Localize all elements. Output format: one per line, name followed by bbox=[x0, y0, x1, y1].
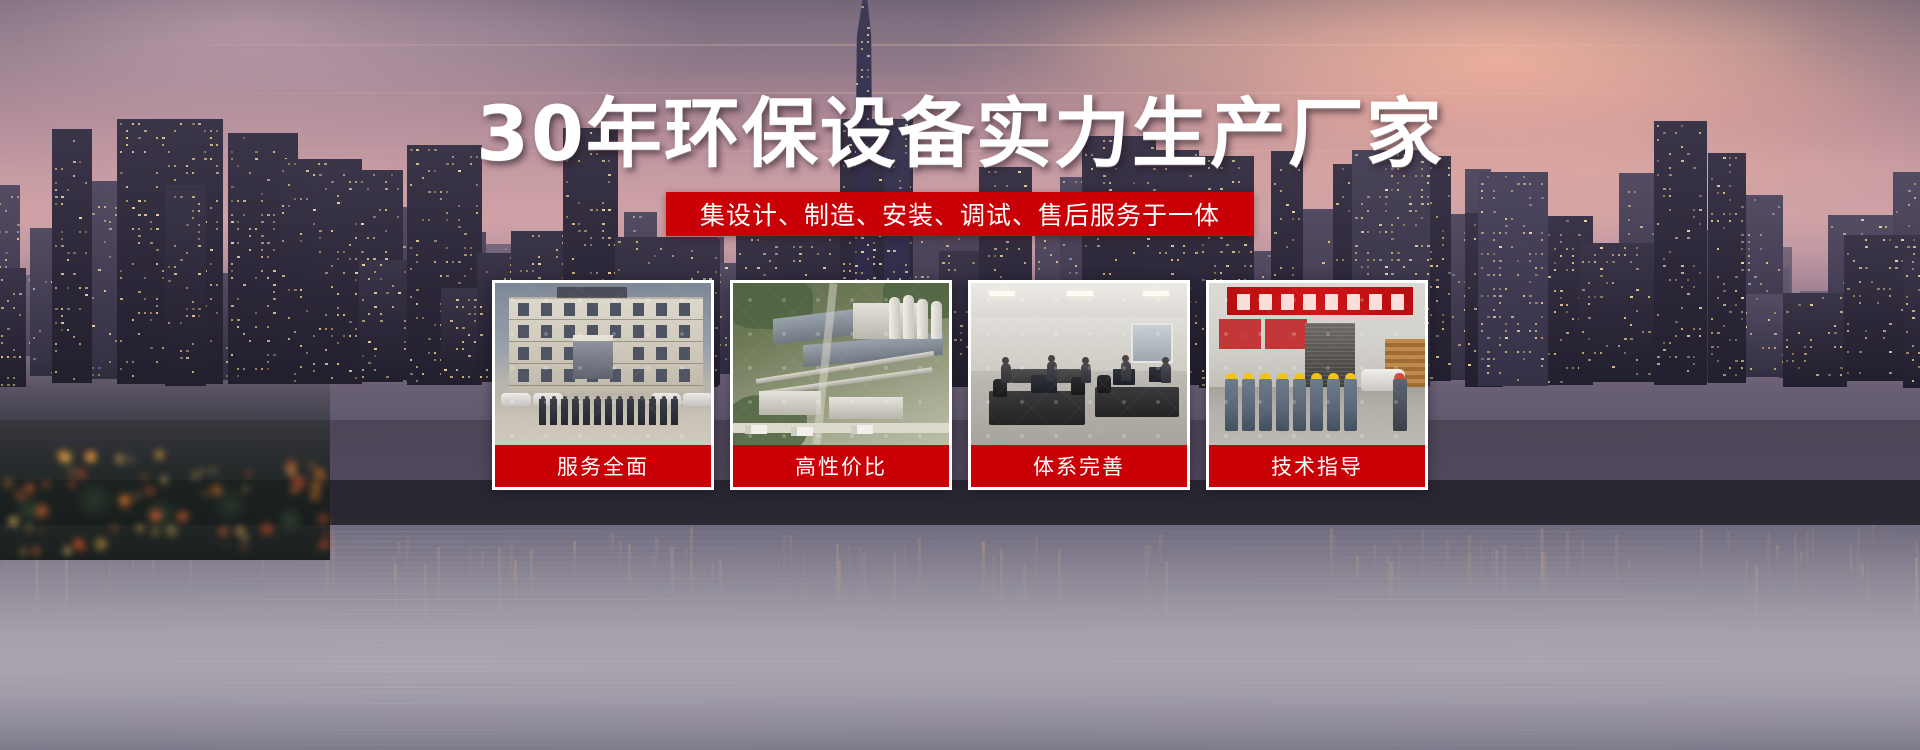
water-ripple bbox=[0, 713, 1920, 714]
window-light bbox=[1274, 232, 1277, 234]
company-sign bbox=[557, 287, 627, 298]
window-light bbox=[386, 376, 389, 378]
window-light bbox=[1913, 253, 1915, 255]
window-light bbox=[422, 317, 424, 319]
window-light bbox=[67, 252, 70, 254]
window-light bbox=[474, 306, 476, 308]
window-light bbox=[1723, 192, 1725, 194]
shutter-slat bbox=[1305, 355, 1355, 356]
light-reflection bbox=[1387, 555, 1390, 611]
window-light bbox=[7, 300, 9, 302]
window-light bbox=[590, 237, 592, 239]
window-light bbox=[1385, 231, 1387, 233]
window-light bbox=[1541, 358, 1544, 360]
window-light bbox=[1430, 314, 1432, 316]
window-light bbox=[294, 198, 296, 200]
window-light bbox=[180, 322, 182, 324]
window-light bbox=[1063, 181, 1065, 183]
truck bbox=[791, 427, 813, 436]
window-light bbox=[1523, 232, 1525, 234]
window-light bbox=[1415, 224, 1417, 226]
window-light bbox=[1487, 351, 1490, 353]
bank-light bbox=[25, 484, 34, 493]
light-reflection bbox=[1000, 549, 1003, 620]
window-light bbox=[1274, 274, 1276, 276]
window-light bbox=[1421, 245, 1423, 247]
window-light bbox=[1723, 227, 1725, 229]
window-light bbox=[456, 299, 459, 301]
window-light bbox=[210, 263, 212, 265]
window-light bbox=[1687, 370, 1689, 372]
window-light bbox=[446, 219, 448, 221]
window-light bbox=[210, 284, 212, 286]
window-light bbox=[1535, 267, 1537, 269]
worker bbox=[1327, 379, 1340, 431]
window-light bbox=[55, 343, 57, 345]
window-light bbox=[538, 263, 541, 265]
window-light bbox=[61, 231, 63, 233]
window-light bbox=[1103, 182, 1105, 184]
window-light bbox=[480, 376, 482, 378]
window-light bbox=[1328, 241, 1330, 243]
window-light bbox=[33, 288, 35, 290]
window-light bbox=[739, 253, 741, 255]
window-light bbox=[1147, 238, 1150, 240]
bank-light bbox=[88, 454, 95, 461]
bank-light bbox=[119, 495, 130, 506]
window-light bbox=[1663, 195, 1665, 197]
light-reflection bbox=[1727, 532, 1730, 557]
window-light bbox=[319, 230, 322, 232]
bank-light bbox=[15, 490, 26, 501]
water-ripple bbox=[0, 599, 1920, 600]
window-light bbox=[55, 308, 58, 310]
window-light bbox=[1741, 206, 1744, 208]
window-light bbox=[1487, 274, 1490, 276]
silo bbox=[903, 295, 914, 339]
window-light bbox=[1754, 199, 1756, 201]
window-light bbox=[867, 69, 869, 71]
building-window bbox=[656, 347, 667, 360]
window-light bbox=[55, 189, 57, 191]
window-light bbox=[446, 247, 448, 249]
window-light bbox=[267, 326, 269, 328]
feature-card[interactable]: 高性价比 bbox=[730, 280, 952, 490]
window-light bbox=[1171, 259, 1173, 261]
window-light bbox=[602, 202, 604, 204]
window-light bbox=[1681, 307, 1683, 309]
window-light bbox=[410, 268, 412, 270]
window-light bbox=[249, 228, 251, 230]
bank-light bbox=[146, 487, 154, 495]
feature-card[interactable]: 体系完善 bbox=[968, 280, 1190, 490]
window-light bbox=[231, 221, 234, 223]
window-light bbox=[1834, 346, 1836, 348]
window-light bbox=[1624, 317, 1626, 319]
building-window bbox=[518, 347, 529, 360]
window-light bbox=[67, 308, 70, 310]
window-light bbox=[1774, 347, 1776, 349]
window-light bbox=[1663, 342, 1665, 344]
light-reflection bbox=[671, 547, 674, 609]
bank-light bbox=[324, 532, 329, 537]
window-light bbox=[1693, 328, 1695, 330]
banner-character bbox=[1281, 294, 1294, 310]
feature-card[interactable]: 服务全面 bbox=[492, 280, 714, 490]
window-light bbox=[126, 186, 128, 188]
window-light bbox=[793, 246, 795, 248]
window-light bbox=[1397, 259, 1400, 261]
window-light bbox=[1018, 248, 1020, 250]
window-light bbox=[150, 221, 152, 223]
window-light bbox=[691, 250, 693, 252]
staff-head bbox=[541, 396, 545, 400]
window-light bbox=[861, 237, 864, 239]
window-light bbox=[92, 297, 94, 299]
window-light bbox=[361, 251, 364, 253]
window-light bbox=[867, 27, 870, 29]
window-light bbox=[404, 320, 406, 322]
staff-member bbox=[616, 399, 623, 425]
window-light bbox=[1572, 255, 1574, 257]
window-light bbox=[1529, 260, 1531, 262]
window-light bbox=[1474, 273, 1476, 275]
window-light bbox=[486, 271, 488, 273]
light-reflection bbox=[1333, 534, 1336, 579]
window-light bbox=[584, 244, 586, 246]
light-reflection bbox=[1526, 547, 1529, 580]
window-light bbox=[1220, 251, 1223, 253]
window-light bbox=[829, 253, 831, 255]
window-light bbox=[1292, 218, 1294, 220]
water-ripple bbox=[0, 640, 1920, 641]
window-light bbox=[1, 307, 4, 309]
window-light bbox=[994, 248, 997, 250]
window-light bbox=[374, 271, 376, 273]
window-light bbox=[1663, 349, 1666, 351]
window-light bbox=[1896, 211, 1898, 213]
window-light bbox=[1912, 380, 1914, 382]
window-light bbox=[1840, 374, 1842, 376]
window-light bbox=[1481, 211, 1483, 213]
person-head bbox=[1122, 355, 1129, 362]
window-light bbox=[385, 230, 387, 232]
shutter-slat bbox=[1305, 359, 1355, 360]
window-light bbox=[231, 319, 233, 321]
window-light bbox=[192, 301, 194, 303]
window-light bbox=[1822, 297, 1824, 299]
window-light bbox=[1669, 251, 1671, 253]
helmet bbox=[1311, 373, 1322, 379]
window-light bbox=[1913, 239, 1915, 241]
window-light bbox=[1367, 273, 1369, 275]
shutter-slat bbox=[1305, 331, 1355, 332]
window-light bbox=[138, 200, 141, 202]
window-light bbox=[273, 354, 276, 356]
window-light bbox=[1669, 342, 1671, 344]
window-light bbox=[861, 251, 864, 253]
window-light bbox=[1748, 241, 1750, 243]
window-light bbox=[1913, 246, 1916, 248]
building-entrance bbox=[573, 335, 613, 379]
person-head bbox=[1162, 357, 1169, 364]
window-light bbox=[17, 231, 19, 233]
light-reflection bbox=[802, 555, 805, 623]
window-light bbox=[349, 335, 351, 337]
office-interior-meeting-photo bbox=[971, 283, 1187, 445]
window-light bbox=[1630, 324, 1632, 326]
window-light bbox=[1908, 190, 1911, 192]
window-light bbox=[1085, 245, 1087, 247]
window-light bbox=[1906, 331, 1908, 333]
window-light bbox=[1693, 286, 1695, 288]
light-reflection bbox=[1628, 558, 1631, 582]
window-light bbox=[757, 267, 760, 269]
light-reflection bbox=[1503, 545, 1506, 618]
window-light bbox=[942, 262, 945, 264]
window-light bbox=[1588, 296, 1590, 298]
window-light bbox=[458, 219, 460, 221]
window-light bbox=[1669, 174, 1672, 176]
window-light bbox=[1847, 351, 1849, 353]
worker bbox=[1259, 379, 1272, 431]
window-light bbox=[243, 214, 245, 216]
light-reflection bbox=[903, 540, 906, 618]
window-light bbox=[331, 181, 334, 183]
window-light bbox=[1804, 360, 1806, 362]
window-light bbox=[288, 289, 290, 291]
window-light bbox=[404, 348, 406, 350]
window-light bbox=[126, 200, 128, 202]
window-light bbox=[1493, 316, 1496, 318]
window-light bbox=[313, 209, 316, 211]
window-light bbox=[1262, 276, 1264, 278]
window-light bbox=[1889, 295, 1891, 297]
window-light bbox=[1675, 321, 1678, 323]
shutter-slat bbox=[1305, 347, 1355, 348]
building-window bbox=[541, 325, 552, 338]
window-light bbox=[1397, 182, 1399, 184]
window-light bbox=[1600, 296, 1603, 298]
window-light bbox=[1612, 261, 1615, 263]
window-light bbox=[1499, 372, 1501, 374]
window-light bbox=[67, 189, 69, 191]
window-light bbox=[1663, 258, 1665, 260]
light-reflection bbox=[397, 542, 400, 560]
window-light bbox=[1594, 254, 1596, 256]
window-light bbox=[267, 340, 270, 342]
window-light bbox=[1024, 185, 1027, 187]
window-light bbox=[1171, 273, 1174, 275]
bank-light bbox=[36, 505, 48, 517]
window-light bbox=[823, 267, 826, 269]
window-light bbox=[1681, 286, 1683, 288]
window-light bbox=[1517, 330, 1520, 332]
window-light bbox=[468, 313, 471, 315]
window-light bbox=[1006, 241, 1009, 243]
window-light bbox=[1280, 190, 1282, 192]
window-light bbox=[288, 338, 290, 340]
feature-card-row: 服务全面 bbox=[492, 280, 1428, 490]
window-light bbox=[1133, 252, 1135, 254]
window-light bbox=[1750, 333, 1752, 335]
window-light bbox=[532, 263, 534, 265]
window-light bbox=[1442, 258, 1444, 260]
window-light bbox=[578, 230, 581, 232]
window-light bbox=[1171, 245, 1174, 247]
window-light bbox=[1493, 190, 1495, 192]
window-light bbox=[1693, 363, 1695, 365]
window-light bbox=[55, 182, 57, 184]
window-light bbox=[198, 245, 201, 247]
window-light bbox=[138, 291, 141, 293]
window-light bbox=[156, 186, 158, 188]
window-light bbox=[374, 355, 376, 357]
window-light bbox=[861, 69, 863, 71]
person-head bbox=[1082, 357, 1089, 364]
window-light bbox=[915, 276, 917, 278]
window-light bbox=[19, 314, 21, 316]
window-light bbox=[237, 200, 239, 202]
window-light bbox=[210, 249, 213, 251]
window-light bbox=[1687, 230, 1690, 232]
window-light bbox=[1183, 252, 1185, 254]
window-light bbox=[1594, 261, 1596, 263]
window-light bbox=[1505, 232, 1507, 234]
window-light bbox=[374, 306, 377, 308]
light-reflection bbox=[619, 542, 622, 580]
light-reflection bbox=[1544, 552, 1547, 621]
window-light bbox=[751, 239, 753, 241]
window-light bbox=[1606, 345, 1608, 347]
banner-character bbox=[1237, 294, 1250, 310]
window-light bbox=[1006, 248, 1008, 250]
window-light bbox=[1834, 325, 1836, 327]
floor-divider bbox=[509, 385, 703, 386]
window-light bbox=[373, 216, 376, 218]
window-light bbox=[1594, 296, 1596, 298]
light-reflection bbox=[1861, 564, 1864, 582]
window-light bbox=[893, 271, 895, 273]
window-light bbox=[1430, 286, 1432, 288]
photo-scene bbox=[1209, 283, 1425, 445]
window-light bbox=[1505, 337, 1508, 339]
window-light bbox=[608, 237, 611, 239]
light-reflection bbox=[1356, 555, 1359, 581]
window-light bbox=[120, 172, 123, 174]
window-light bbox=[879, 20, 881, 22]
window-light bbox=[1427, 196, 1429, 198]
window-light bbox=[468, 299, 470, 301]
window-light bbox=[1385, 196, 1388, 198]
car bbox=[501, 393, 531, 406]
workshop-red-banner bbox=[1227, 287, 1413, 315]
window-light bbox=[602, 223, 605, 225]
window-light bbox=[73, 175, 75, 177]
window-light bbox=[1436, 279, 1439, 281]
light-reflection bbox=[1023, 564, 1026, 623]
window-light bbox=[1208, 237, 1210, 239]
window-light bbox=[1499, 246, 1502, 248]
window-light bbox=[1409, 259, 1412, 261]
water-ripple bbox=[0, 578, 1920, 579]
window-light bbox=[85, 182, 87, 184]
window-light bbox=[1481, 358, 1484, 360]
window-light bbox=[1195, 252, 1198, 254]
window-light bbox=[855, 272, 857, 274]
window-light bbox=[300, 233, 302, 235]
water-ripple bbox=[0, 573, 1920, 574]
window-light bbox=[416, 240, 419, 242]
window-light bbox=[899, 180, 901, 182]
window-light bbox=[1912, 317, 1915, 319]
window-light bbox=[1774, 333, 1777, 335]
window-light bbox=[231, 263, 233, 265]
window-light bbox=[1912, 359, 1914, 361]
window-light bbox=[1000, 255, 1003, 257]
window-light bbox=[17, 224, 20, 226]
window-light bbox=[1505, 218, 1507, 220]
feature-card[interactable]: 技术指导 bbox=[1206, 280, 1428, 490]
window-light bbox=[249, 249, 251, 251]
water-ripple bbox=[0, 692, 1920, 693]
window-light bbox=[1687, 293, 1690, 295]
window-light bbox=[5, 231, 8, 233]
hero-banner: 30年环保设备实力生产厂家 集设计、制造、安装、调试、售后服务于一体 bbox=[0, 0, 1920, 750]
window-light bbox=[861, 272, 863, 274]
window-light bbox=[1741, 234, 1744, 236]
window-light bbox=[1505, 323, 1507, 325]
window-light bbox=[958, 238, 960, 240]
window-light bbox=[1630, 296, 1633, 298]
window-light bbox=[450, 376, 453, 378]
window-light bbox=[362, 264, 365, 266]
shutter-slat bbox=[1305, 335, 1355, 336]
window-light bbox=[349, 321, 352, 323]
window-light bbox=[174, 266, 176, 268]
window-light bbox=[156, 305, 158, 307]
window-light bbox=[1397, 252, 1400, 254]
light-reflection bbox=[332, 532, 335, 609]
water-ripple bbox=[0, 635, 1920, 636]
window-light bbox=[1075, 272, 1078, 274]
window-light bbox=[1250, 251, 1252, 253]
window-light bbox=[1421, 203, 1424, 205]
window-light bbox=[757, 239, 759, 241]
staff-member bbox=[605, 399, 612, 425]
window-light bbox=[660, 248, 662, 250]
window-light bbox=[450, 320, 453, 322]
window-light bbox=[994, 255, 996, 257]
water-ripple bbox=[0, 625, 1920, 626]
window-light bbox=[13, 307, 15, 309]
window-light bbox=[462, 306, 464, 308]
window-light bbox=[1895, 260, 1898, 262]
window-light bbox=[210, 207, 212, 209]
window-light bbox=[337, 314, 339, 316]
window-light bbox=[1618, 345, 1620, 347]
window-light bbox=[186, 287, 188, 289]
window-light bbox=[1657, 223, 1659, 225]
window-light bbox=[55, 203, 57, 205]
window-light bbox=[1895, 267, 1898, 269]
hotel-tower bbox=[1478, 172, 1548, 386]
window-light bbox=[380, 264, 382, 266]
window-light bbox=[98, 269, 101, 271]
window-light bbox=[198, 210, 200, 212]
window-light bbox=[470, 254, 472, 256]
window-light bbox=[404, 271, 406, 273]
